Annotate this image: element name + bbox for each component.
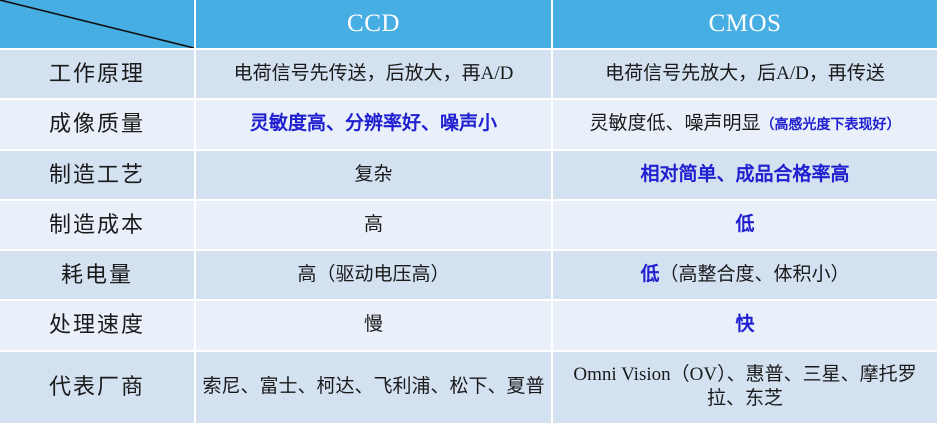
header-ccd: CCD: [196, 0, 553, 50]
cell-cmos-power-consumption: 低（高整合度、体积小）: [553, 251, 937, 301]
row-label-power-consumption: 耗电量: [0, 251, 196, 301]
table-body: 工作原理 电荷信号先传送，后放大，再A/D 电荷信号先放大，后A/D，再传送 成…: [0, 50, 937, 425]
table-row: 制造成本 高 低: [0, 201, 937, 251]
table-row: 耗电量 高（驱动电压高） 低（高整合度、体积小）: [0, 251, 937, 301]
cmos-image-quality-note: （高感光度下表现好）: [761, 118, 901, 133]
row-label-processing-speed: 处理速度: [0, 301, 196, 351]
table-row: 工作原理 电荷信号先传送，后放大，再A/D 电荷信号先放大，后A/D，再传送: [0, 50, 937, 100]
row-label-representative-vendors: 代表厂商: [0, 352, 196, 425]
cell-ccd-representative-vendors: 索尼、富士、柯达、飞利浦、松下、夏普: [196, 352, 553, 425]
cell-ccd-working-principle: 电荷信号先传送，后放大，再A/D: [196, 50, 553, 100]
diagonal-divider-icon: [0, 0, 194, 48]
cell-cmos-representative-vendors: Omni Vision（OV）、惠普、三星、摩托罗拉、东芝: [553, 352, 937, 425]
row-label-manufacturing-cost: 制造成本: [0, 201, 196, 251]
cell-ccd-image-quality: 灵敏度高、分辨率好、噪声小: [196, 100, 553, 150]
cell-cmos-manufacturing-cost: 低: [553, 201, 937, 251]
corner-diagonal-cell: [0, 0, 196, 50]
cell-ccd-power-consumption: 高（驱动电压高）: [196, 251, 553, 301]
cell-cmos-processing-speed: 快: [553, 301, 937, 351]
cmos-power-lead: 低: [640, 264, 659, 285]
cmos-image-quality-main: 灵敏度低、噪声明显: [589, 113, 760, 134]
table-row: 代表厂商 索尼、富士、柯达、飞利浦、松下、夏普 Omni Vision（OV）、…: [0, 352, 937, 425]
cell-ccd-processing-speed: 慢: [196, 301, 553, 351]
table-row: 成像质量 灵敏度高、分辨率好、噪声小 灵敏度低、噪声明显（高感光度下表现好）: [0, 100, 937, 150]
cell-cmos-working-principle: 电荷信号先放大，后A/D，再传送: [553, 50, 937, 100]
row-label-manufacturing-process: 制造工艺: [0, 151, 196, 201]
row-label-image-quality: 成像质量: [0, 100, 196, 150]
table-row: 处理速度 慢 快: [0, 301, 937, 351]
cell-cmos-manufacturing-process: 相对简单、成品合格率高: [553, 151, 937, 201]
header-row: CCD CMOS: [0, 0, 937, 50]
row-label-working-principle: 工作原理: [0, 50, 196, 100]
table-header: CCD CMOS: [0, 0, 937, 50]
cell-cmos-image-quality: 灵敏度低、噪声明显（高感光度下表现好）: [553, 100, 937, 150]
header-cmos: CMOS: [553, 0, 937, 50]
cell-ccd-manufacturing-process: 复杂: [196, 151, 553, 201]
table-row: 制造工艺 复杂 相对简单、成品合格率高: [0, 151, 937, 201]
cmos-power-rest: （高整合度、体积小）: [660, 264, 850, 285]
cell-ccd-manufacturing-cost: 高: [196, 201, 553, 251]
ccd-cmos-comparison-table: CCD CMOS 工作原理 电荷信号先传送，后放大，再A/D 电荷信号先放大，后…: [0, 0, 937, 425]
